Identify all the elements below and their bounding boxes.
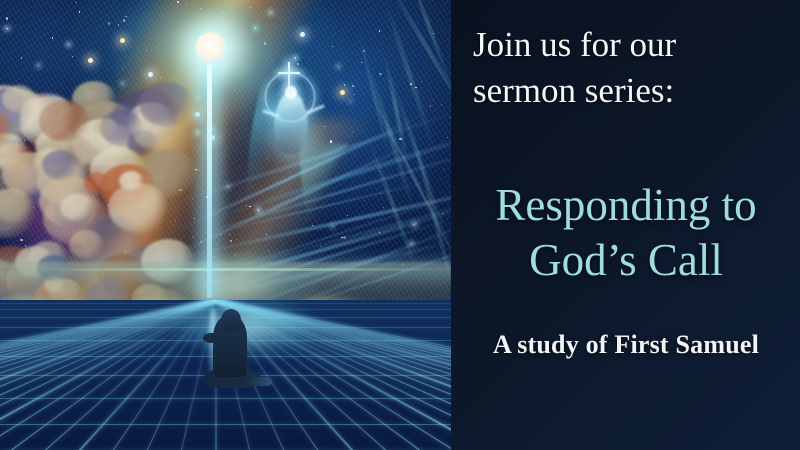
title-line-2: God’s Call: [461, 233, 791, 288]
subtitle-text: A study of First Samuel: [461, 330, 791, 360]
kneeling-figure-hood: [221, 309, 241, 331]
cross-star-icon: [288, 62, 290, 88]
angel-head: [285, 86, 297, 99]
title-line-1: Responding to: [461, 178, 791, 233]
cross-star-crossbar-icon: [278, 72, 300, 74]
angel-figure: [274, 92, 308, 154]
artwork-image: [0, 0, 451, 450]
light-beam: [207, 58, 212, 298]
sermon-series-slide: Join us for our sermon series: Respondin…: [0, 0, 800, 450]
kneeling-figure-shoe: [248, 377, 272, 386]
kicker-text: Join us for our sermon series:: [473, 22, 781, 113]
text-panel-inner: Join us for our sermon series: Respondin…: [451, 0, 800, 450]
kneeling-figure-arm: [203, 333, 219, 343]
page-title: Responding to God’s Call: [461, 178, 791, 288]
text-panel: Join us for our sermon series: Respondin…: [451, 0, 800, 450]
light-orb-icon: [195, 32, 227, 64]
